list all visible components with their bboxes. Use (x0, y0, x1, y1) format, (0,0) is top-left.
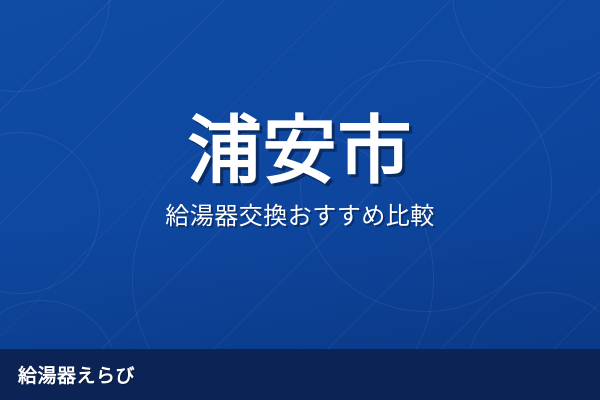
banner: 浦安市 給湯器交換おすすめ比較 給湯器えらび (0, 0, 600, 400)
hero-text-block: 浦安市 給湯器交換おすすめ比較 (0, 0, 600, 349)
page-subtitle: 給湯器交換おすすめ比較 (165, 201, 435, 231)
brand-name: 給湯器えらび (18, 361, 135, 388)
page-title: 浦安市 (188, 112, 413, 190)
brand-footer-bar: 給湯器えらび (0, 349, 600, 400)
